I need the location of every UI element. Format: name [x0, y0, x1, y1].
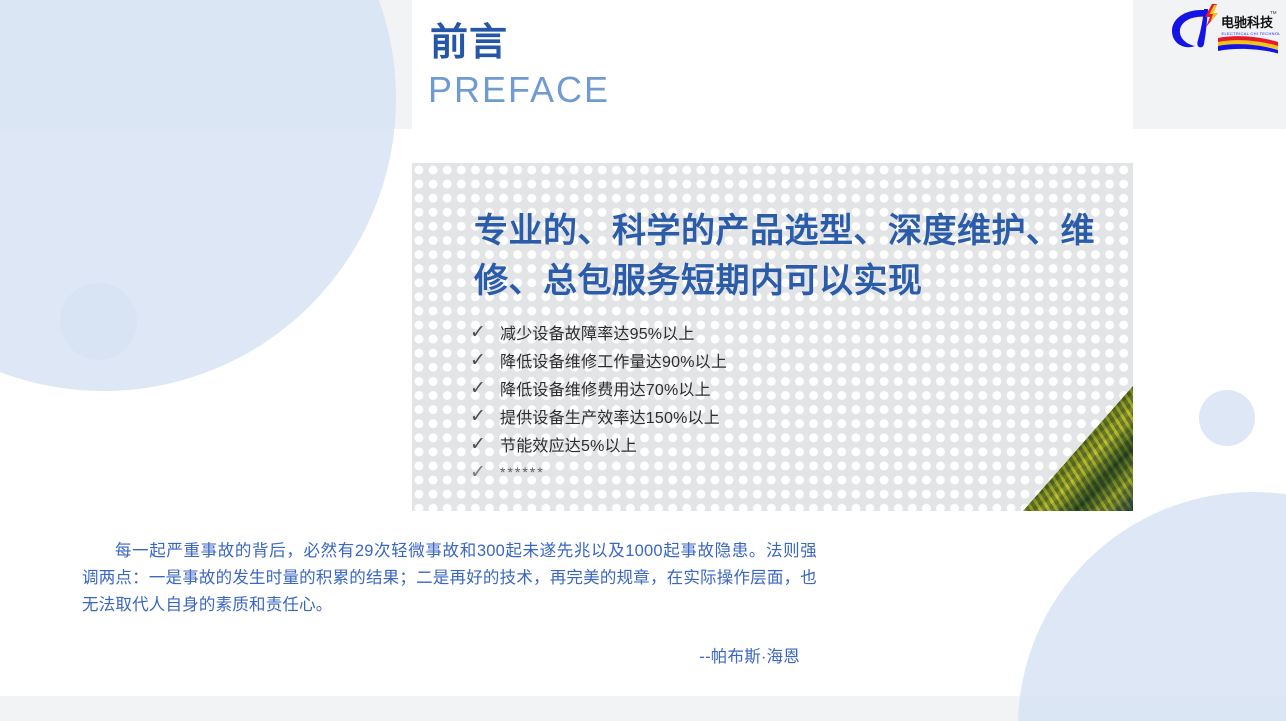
logo-name-en: ELECTRICAL CHI TECHNOLOGY: [1222, 31, 1281, 36]
quote-paragraph: 每一起严重事故的背后，必然有29次轻微事故和300起未遂先兆以及1000起事故隐…: [82, 538, 817, 619]
check-icon: ✓: [470, 463, 500, 482]
lightning-bolt-icon: [1205, 4, 1218, 27]
list-item: ✓ 节能效应达5%以上: [470, 430, 727, 458]
logo-svg: 电驰科技 ELECTRICAL CHI TECHNOLOGY TM: [1162, 2, 1280, 56]
list-item: ✓ 降低设备维修费用达70%以上: [470, 374, 727, 402]
company-logo: 电驰科技 ELECTRICAL CHI TECHNOLOGY TM: [1162, 2, 1280, 56]
quote-box: 每一起严重事故的背后，必然有29次轻微事故和300起未遂先兆以及1000起事故隐…: [70, 528, 823, 677]
logo-trademark: TM: [1270, 10, 1277, 15]
check-icon: ✓: [470, 407, 500, 426]
list-item: ✓ 减少设备故障率达95%以上: [470, 318, 727, 346]
list-item-label: 降低设备维修费用达70%以上: [500, 376, 711, 400]
check-icon: ✓: [470, 323, 500, 342]
list-item: ✓ 降低设备维修工作量达90%以上: [470, 346, 727, 374]
check-icon: ✓: [470, 351, 500, 370]
panel-heading: 专业的、科学的产品选型、深度维护、维修、总包服务短期内可以实现: [474, 206, 1144, 307]
check-icon: ✓: [470, 379, 500, 398]
list-item-label: ******: [500, 464, 545, 480]
logo-name-cn: 电驰科技: [1221, 15, 1274, 31]
quote-attribution: --帕布斯·海恩: [699, 643, 800, 667]
list-item-label: 节能效应达5%以上: [500, 432, 637, 456]
check-icon: ✓: [470, 435, 500, 454]
foliage-photo-texture: [1023, 386, 1133, 511]
page-title-en: PREFACE: [428, 70, 610, 110]
list-item-label: 提供设备生产效率达150%以上: [500, 404, 720, 428]
list-item-label: 减少设备故障率达95%以上: [500, 320, 695, 344]
list-item-label: 降低设备维修工作量达90%以上: [500, 348, 727, 372]
list-item: ✓ ******: [470, 458, 727, 486]
benefit-list: ✓ 减少设备故障率达95%以上 ✓ 降低设备维修工作量达90%以上 ✓ 降低设备…: [470, 318, 727, 486]
slide-canvas: 前言 PREFACE 电驰科技 ELECTRICAL CHI TECHNOLOG…: [0, 0, 1286, 721]
list-item: ✓ 提供设备生产效率达150%以上: [470, 402, 727, 430]
page-title-cn: 前言: [430, 24, 508, 64]
